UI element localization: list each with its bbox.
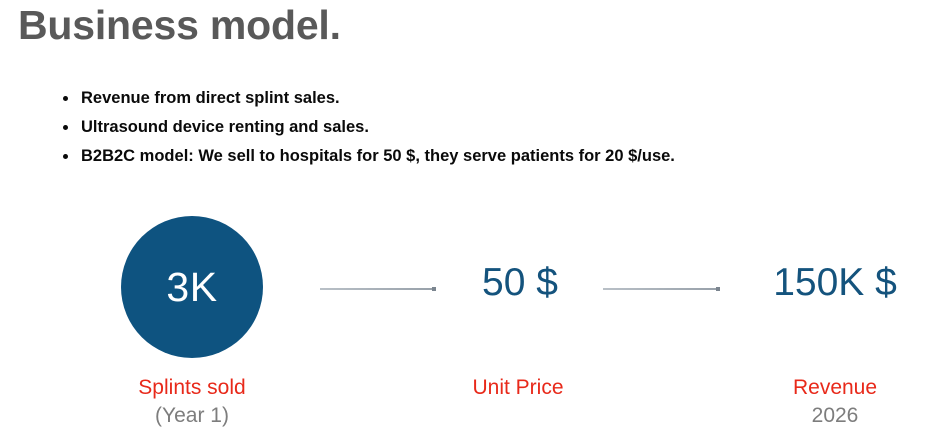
splints-sold-label: Splints sold <box>92 374 292 401</box>
connector-line-icon <box>603 288 720 290</box>
revenue-value: 150K $ <box>740 263 925 302</box>
revenue-sublabel: 2026 <box>740 401 925 430</box>
revenue-label: Revenue <box>740 374 925 401</box>
business-model-diagram: 3K 50 $ 150K $ Splints sold (Year 1) Uni… <box>0 0 925 446</box>
connector-line-icon <box>320 288 436 290</box>
splints-sold-value: 3K <box>166 267 217 308</box>
splints-sold-caption: Splints sold (Year 1) <box>92 374 292 430</box>
splints-sold-circle: 3K <box>121 216 263 358</box>
revenue-caption: Revenue 2026 <box>740 374 925 430</box>
unit-price-label: Unit Price <box>430 374 606 401</box>
unit-price-caption: Unit Price <box>430 374 606 401</box>
splints-sold-sublabel: (Year 1) <box>92 401 292 430</box>
unit-price-value: 50 $ <box>432 263 608 302</box>
